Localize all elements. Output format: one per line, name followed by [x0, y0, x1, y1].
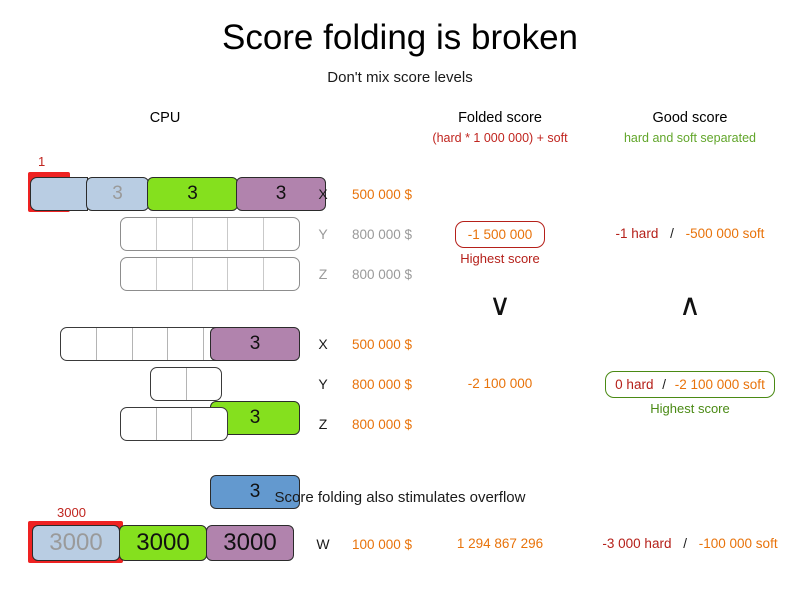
cpu-row-cost-g2-z: 800 000 $ [352, 417, 412, 432]
good-score-g1-separator: / [670, 226, 674, 241]
cpu-bar-g2-z-track [120, 407, 228, 441]
cpu-segment [30, 177, 88, 211]
folded-score-g1-note: Highest score [400, 251, 600, 266]
cpu-bar-g1-y [120, 217, 300, 251]
good-score-overflow-separator: / [683, 536, 687, 551]
cpu-empty-cell [133, 328, 169, 360]
cpu-segment: 3000 [32, 525, 120, 561]
cpu-row-label-g1-x: X [313, 186, 333, 202]
cpu-empty-cell [121, 218, 157, 250]
page-title: Score folding is broken [0, 18, 800, 58]
page-subtitle: Don't mix score levels [0, 69, 800, 86]
cpu-empty-cell [264, 218, 299, 250]
column-subheader-folded: (hard * 1 000 000) + soft [390, 131, 610, 145]
overflow-subtitle: Score folding also stimulates overflow [140, 489, 660, 506]
cpu-empty-cell [193, 258, 229, 290]
folded-score-g2-value: -2 100 000 [400, 376, 600, 391]
cpu-empty-cell [151, 368, 187, 400]
overflow-highlight-label: 3000 [57, 505, 86, 520]
column-header-cpu: CPU [105, 110, 225, 126]
cpu-segment: 3 [86, 177, 149, 211]
cpu-empty-cell [228, 218, 264, 250]
cpu-segment: 3 [147, 177, 238, 211]
good-score-g1-hard: -1 hard [616, 226, 659, 241]
chevron-down-icon: ∨ [450, 291, 550, 321]
cpu-empty-cell [187, 368, 222, 400]
cpu-empty-cell [264, 258, 299, 290]
cpu-empty-cell [97, 328, 133, 360]
cpu-empty-cell [228, 258, 264, 290]
cpu-bar-g1-x: 3 3 3 [30, 177, 326, 211]
cpu-empty-cell [121, 408, 157, 440]
cpu-row-cost-g2-x: 500 000 $ [352, 337, 412, 352]
cpu-bar-g1-z [120, 257, 300, 291]
good-score-g1-soft: -500 000 soft [686, 226, 765, 241]
cpu-empty-cell [61, 328, 97, 360]
group1-highlight-label: 1 [38, 154, 45, 169]
cpu-segment-g2-x: 3 [210, 327, 300, 361]
cpu-empty-cell [157, 408, 193, 440]
cpu-empty-cell [193, 218, 229, 250]
slide-canvas: Score folding is broken Don't mix score … [0, 0, 800, 600]
cpu-empty-cell [121, 258, 157, 290]
cpu-bar-g2-y-track [150, 367, 222, 401]
good-score-overflow-hard: -3 000 hard [602, 536, 671, 551]
good-score-g1: -1 hard / -500 000 soft [590, 226, 790, 241]
good-score-g2-hard: 0 hard [615, 377, 653, 392]
cpu-empty-cell [192, 408, 227, 440]
cpu-row-label-g2-z: Z [313, 416, 333, 432]
cpu-row-label-g1-z: Z [313, 266, 333, 282]
folded-score-g1-value: -1 500 000 [455, 221, 546, 248]
cpu-empty-cell [168, 328, 204, 360]
cpu-row-label-g2-y: Y [313, 376, 333, 392]
good-score-g2-separator: / [662, 377, 666, 392]
cpu-empty-cell [157, 258, 193, 290]
folded-score-overflow-value: 1 294 867 296 [400, 536, 600, 551]
good-score-g2-box: 0 hard / -2 100 000 soft [605, 371, 775, 398]
column-subheader-good: hard and soft separated [590, 131, 790, 145]
cpu-row-label-g1-y: Y [313, 226, 333, 242]
cpu-row-label-overflow-w: W [313, 536, 333, 552]
cpu-empty-cell [157, 218, 193, 250]
column-header-good: Good score [590, 110, 790, 126]
good-score-g2: 0 hard / -2 100 000 soft [580, 371, 800, 398]
good-score-g2-soft: -2 100 000 soft [675, 377, 765, 392]
chevron-up-icon: ∧ [640, 291, 740, 321]
cpu-segment: 3000 [206, 525, 294, 561]
good-score-overflow-soft: -100 000 soft [699, 536, 778, 551]
folded-score-g1: -1 500 000 [400, 221, 600, 248]
cpu-row-cost-g1-x: 500 000 $ [352, 187, 412, 202]
good-score-g2-note: Highest score [580, 401, 800, 416]
column-header-folded: Folded score [400, 110, 600, 126]
cpu-row-cost-g1-z: 800 000 $ [352, 267, 412, 282]
cpu-segment: 3000 [119, 525, 207, 561]
good-score-overflow: -3 000 hard / -100 000 soft [580, 536, 800, 551]
cpu-bar-overflow-w: 3000 3000 3000 [32, 525, 294, 561]
cpu-row-label-g2-x: X [313, 336, 333, 352]
